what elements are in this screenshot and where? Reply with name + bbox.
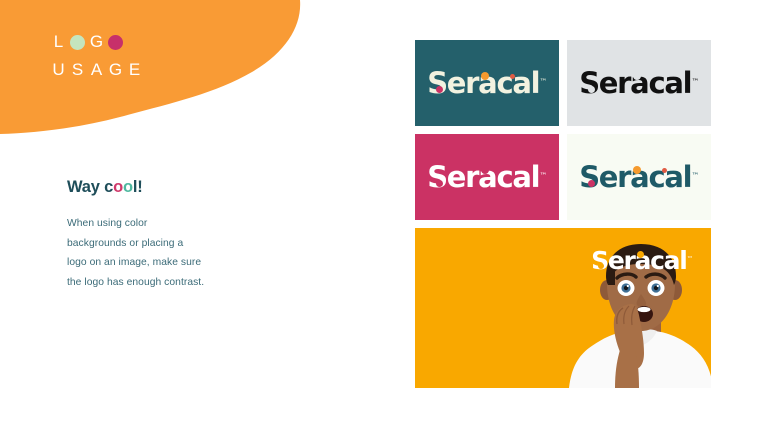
trademark-icon: ™ [540, 171, 548, 180]
body-copy: When using color backgrounds or placing … [67, 214, 267, 292]
logo-tile-dark-teal[interactable]: Seracal™ [415, 40, 559, 126]
dot-pink-icon [108, 35, 123, 50]
seracal-logotype: Seracal™ [427, 66, 547, 100]
logo-tile-light-gray[interactable]: Seracal™ [567, 40, 711, 126]
logo-tile-crimson[interactable]: Seracal™ [415, 134, 559, 220]
copy-block: Way cool! When using color backgrounds o… [67, 177, 267, 292]
body-line-1: When using color [67, 218, 147, 229]
brand-letter-a: A [87, 59, 106, 81]
seracal-wordmark-text: Seracal [427, 66, 539, 100]
tile-row-2: Seracal™ Seracal™ [415, 134, 711, 220]
brand-wordmark: L G U S A G E [49, 31, 144, 81]
brand-letter-s: S [68, 59, 87, 81]
headline-o-pink: o [113, 178, 123, 196]
logo-tile-cream[interactable]: Seracal™ [567, 134, 711, 220]
headline: Way cool! [67, 177, 267, 197]
brand-letter-e: E [125, 59, 144, 81]
slide-canvas: L G U S A G E Way cool! When using color… [0, 0, 768, 432]
photo-tile-surprised-boy[interactable]: Seracal™ [415, 228, 711, 388]
dot-green-icon [70, 35, 85, 50]
orange-blob-decoration [0, 0, 320, 150]
brand-letter-u: U [49, 59, 68, 81]
headline-after: l! [133, 178, 143, 196]
brand-letter-g2: G [106, 59, 125, 81]
trademark-icon: ™ [687, 255, 694, 263]
brand-line-logo: L G [49, 31, 144, 53]
seracal-wordmark-text: Seracal [591, 246, 686, 275]
seracal-wordmark-text: Seracal [427, 160, 539, 194]
logo-tile-grid: Seracal™ Seracal™ Seracal™ [415, 40, 711, 388]
brand-dot-pink-wrap [106, 35, 125, 50]
brand-letter-l: L [49, 31, 68, 53]
body-line-4: the logo has enough contrast. [67, 277, 204, 288]
trademark-icon: ™ [692, 77, 700, 86]
brand-letter-g: G [87, 31, 106, 53]
seracal-logotype-on-photo: Seracal™ [591, 246, 693, 275]
trademark-icon: ™ [540, 77, 548, 86]
seracal-wordmark-text: Seracal [579, 160, 691, 194]
brand-line-usage: U S A G E [49, 59, 144, 81]
body-line-3: logo on an image, make sure [67, 257, 201, 268]
headline-o-green: o [123, 178, 133, 196]
trademark-icon: ™ [692, 171, 700, 180]
tile-row-1: Seracal™ Seracal™ [415, 40, 711, 126]
body-line-2: backgrounds or placing a [67, 238, 183, 249]
seracal-wordmark-text: Seracal [579, 66, 691, 100]
headline-before: Way c [67, 178, 113, 196]
seracal-logotype: Seracal™ [579, 66, 699, 100]
seracal-logotype: Seracal™ [427, 160, 547, 194]
brand-dot-green-wrap [68, 35, 87, 50]
seracal-logotype: Seracal™ [579, 160, 699, 194]
